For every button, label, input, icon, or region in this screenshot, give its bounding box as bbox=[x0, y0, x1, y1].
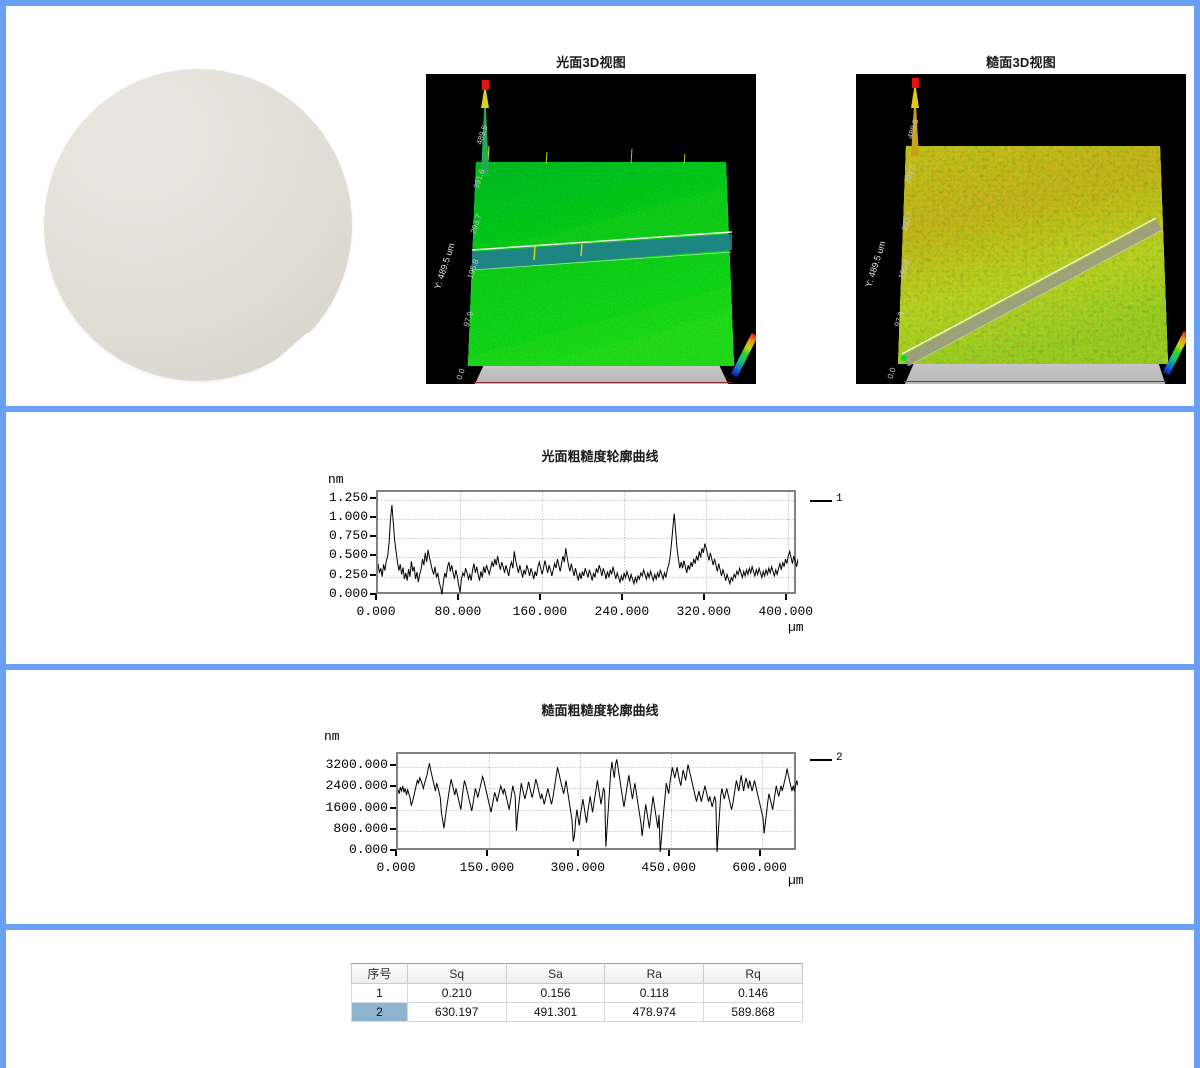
rough-3d-view[interactable]: 0.0 97.9 195.8 293.7 391.6 489.5 X: 489.… bbox=[856, 74, 1186, 384]
wafer-sample-photo bbox=[36, 61, 366, 391]
smooth-legend-label: 1 bbox=[836, 493, 843, 505]
y-tick-label: 0.750 bbox=[322, 528, 368, 543]
y-tick-label: 0.000 bbox=[316, 842, 388, 857]
smooth-legend-swatch bbox=[810, 500, 832, 502]
profile-trace bbox=[378, 492, 798, 596]
smooth-x-unit: µm bbox=[788, 620, 804, 635]
y-tick-mark bbox=[370, 554, 376, 556]
y-tick-mark bbox=[370, 574, 376, 576]
cell-sq: 630.197 bbox=[407, 1003, 506, 1022]
report-container: 光面3D视图 bbox=[0, 0, 1200, 1068]
panel-smooth-profile: 光面粗糙度轮廓曲线 nm 1.2501.0000.7500.5000.2500.… bbox=[6, 412, 1194, 664]
th-sa[interactable]: Sa bbox=[506, 964, 605, 984]
x-tick-mark bbox=[395, 850, 397, 856]
x-tick-mark bbox=[759, 850, 761, 856]
rough-legend-swatch bbox=[810, 759, 832, 761]
x-tick-mark bbox=[621, 594, 623, 600]
rough-y-unit: nm bbox=[324, 729, 340, 744]
rough-profile-plot[interactable] bbox=[396, 752, 796, 850]
x-tick-label: 150.000 bbox=[447, 860, 527, 875]
rough-3d-title: 糙面3D视图 bbox=[856, 52, 1186, 71]
th-ra[interactable]: Ra bbox=[605, 964, 704, 984]
x-tick-mark bbox=[539, 594, 541, 600]
smooth-3d-title: 光面3D视图 bbox=[426, 52, 756, 71]
y-tick-mark bbox=[370, 497, 376, 499]
x-tick-mark bbox=[668, 850, 670, 856]
smooth-3d-view[interactable]: 0.0 97.9 195.8 293.7 391.6 489.5 X: 489.… bbox=[426, 74, 756, 384]
cell-rq: 0.146 bbox=[704, 984, 803, 1003]
smooth-y-unit: nm bbox=[328, 472, 344, 487]
cell-sa: 0.156 bbox=[506, 984, 605, 1003]
y-tick-mark bbox=[390, 828, 396, 830]
th-sq[interactable]: Sq bbox=[407, 964, 506, 984]
x-tick-mark bbox=[486, 850, 488, 856]
y-tick-label: 2400.000 bbox=[316, 778, 388, 793]
table-row[interactable]: 1 0.210 0.156 0.118 0.146 bbox=[352, 984, 803, 1003]
cell-rq: 589.868 bbox=[704, 1003, 803, 1022]
x-tick-mark bbox=[785, 594, 787, 600]
x-tick-label: 450.000 bbox=[629, 860, 709, 875]
y-tick-label: 1.250 bbox=[322, 490, 368, 505]
y-tick-label: 1.000 bbox=[322, 509, 368, 524]
y-tick-label: 0.500 bbox=[322, 547, 368, 562]
profile-trace bbox=[398, 754, 798, 852]
table-row[interactable]: 2 630.197 491.301 478.974 589.868 bbox=[352, 1003, 803, 1022]
x-tick-label: 80.000 bbox=[418, 604, 498, 619]
y-tick-mark bbox=[390, 785, 396, 787]
rough-z-colorbar bbox=[894, 76, 954, 176]
x-tick-label: 400.000 bbox=[746, 604, 826, 619]
y-tick-label: 800.000 bbox=[316, 821, 388, 836]
rough-x-axisline bbox=[904, 381, 1166, 382]
th-index[interactable]: 序号 bbox=[352, 964, 408, 984]
cell-index[interactable]: 1 bbox=[352, 984, 408, 1003]
y-tick-mark bbox=[370, 535, 376, 537]
x-tick-mark bbox=[375, 594, 377, 600]
smooth-profile-plot[interactable] bbox=[376, 490, 796, 594]
panel-3d-views: 光面3D视图 bbox=[6, 6, 1194, 406]
x-tick-mark bbox=[577, 850, 579, 856]
th-rq[interactable]: Rq bbox=[704, 964, 803, 984]
x-tick-label: 240.000 bbox=[582, 604, 662, 619]
x-tick-mark bbox=[703, 594, 705, 600]
smooth-z-colorbar bbox=[462, 78, 522, 188]
y-tick-mark bbox=[390, 764, 396, 766]
table-header-row: 序号 Sq Sa Ra Rq bbox=[352, 964, 803, 984]
rough-legend-label: 2 bbox=[836, 752, 843, 764]
cell-sa: 491.301 bbox=[506, 1003, 605, 1022]
cell-ra: 478.974 bbox=[605, 1003, 704, 1022]
cell-ra: 0.118 bbox=[605, 984, 704, 1003]
panel-stats: 序号 Sq Sa Ra Rq 1 0.210 0.156 0.118 0.146… bbox=[6, 930, 1194, 1068]
wafer-disc bbox=[44, 69, 352, 381]
y-tick-mark bbox=[390, 807, 396, 809]
x-tick-label: 300.000 bbox=[538, 860, 618, 875]
rough-chart-title: 糙面粗糙度轮廓曲线 bbox=[6, 700, 1194, 719]
smooth-chart-title: 光面粗糙度轮廓曲线 bbox=[6, 446, 1194, 465]
panel-rough-profile: 糙面粗糙度轮廓曲线 nm 3200.0002400.0001600.000800… bbox=[6, 670, 1194, 924]
roughness-stats-table[interactable]: 序号 Sq Sa Ra Rq 1 0.210 0.156 0.118 0.146… bbox=[351, 963, 803, 1022]
x-tick-label: 160.000 bbox=[500, 604, 580, 619]
y-tick-label: 0.000 bbox=[322, 586, 368, 601]
y-tick-label: 1600.000 bbox=[316, 800, 388, 815]
cell-sq: 0.210 bbox=[407, 984, 506, 1003]
cell-index[interactable]: 2 bbox=[352, 1003, 408, 1022]
y-tick-label: 0.250 bbox=[322, 567, 368, 582]
x-tick-label: 0.000 bbox=[336, 604, 416, 619]
y-tick-mark bbox=[370, 516, 376, 518]
y-tick-label: 3200.000 bbox=[316, 757, 388, 772]
rough-x-unit: µm bbox=[788, 873, 804, 888]
x-tick-mark bbox=[457, 594, 459, 600]
x-tick-label: 320.000 bbox=[664, 604, 744, 619]
smooth-x-axisline bbox=[474, 382, 732, 383]
x-tick-label: 0.000 bbox=[356, 860, 436, 875]
